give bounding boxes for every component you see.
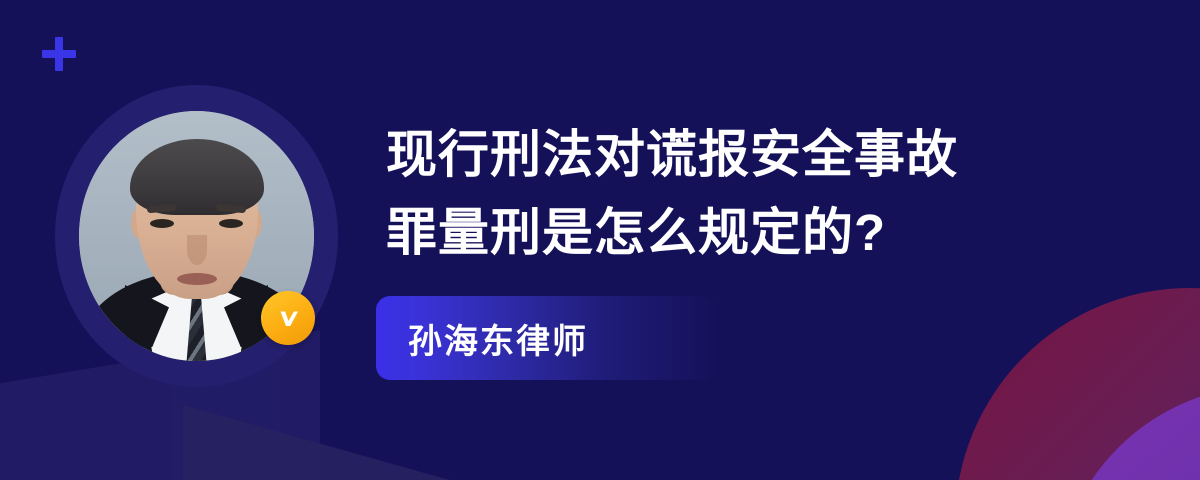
verified-check-icon bbox=[261, 291, 315, 345]
portrait-eye-right bbox=[219, 219, 243, 228]
decorative-circle-crimson bbox=[955, 288, 1200, 480]
portrait-eye-left bbox=[150, 219, 174, 228]
headline-line-2: 罪量刑是怎么规定的? bbox=[386, 194, 1146, 272]
decorative-circle-purple bbox=[1055, 385, 1200, 480]
portrait-nose bbox=[187, 235, 207, 265]
author-name-badge[interactable]: 孙海东律师 bbox=[376, 296, 716, 380]
author-name-label: 孙海东律师 bbox=[376, 314, 588, 363]
page-title: 现行刑法对谎报安全事故 罪量刑是怎么规定的? bbox=[386, 116, 1146, 272]
background-polygon-b bbox=[183, 405, 473, 480]
portrait-mouth bbox=[177, 273, 217, 285]
headline-block: 现行刑法对谎报安全事故 罪量刑是怎么规定的? bbox=[386, 116, 1146, 272]
avatar[interactable] bbox=[55, 85, 338, 387]
headline-line-1: 现行刑法对谎报安全事故 bbox=[386, 116, 1146, 194]
plus-icon bbox=[41, 36, 77, 72]
lawyer-question-banner: 现行刑法对谎报安全事故 罪量刑是怎么规定的? 孙海东律师 bbox=[0, 0, 1200, 480]
